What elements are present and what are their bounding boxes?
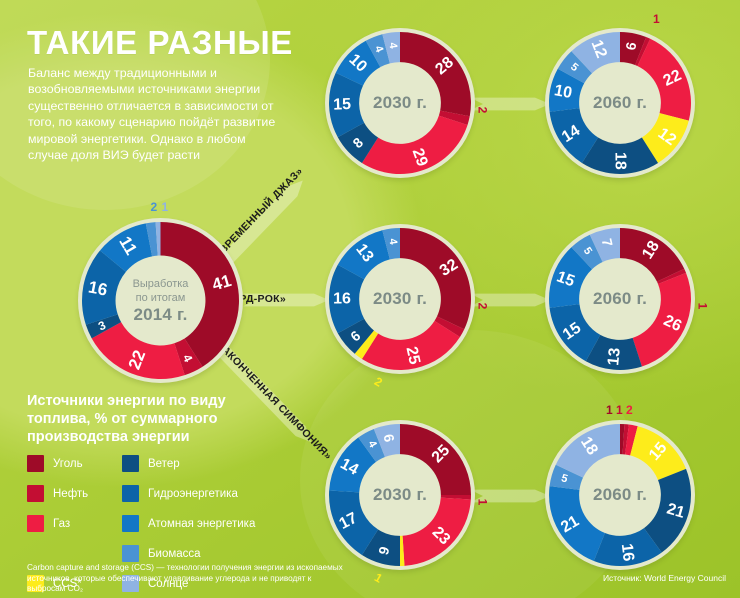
legend-item--: Ветер [122,452,255,475]
donut-slice-label: 16 [87,277,109,299]
legend-item--: Биомасса [122,542,255,565]
infographic-canvas: ТАКИЕ РАЗНЫЕ Баланс между традиционными … [0,0,740,598]
legend-swatch [27,485,44,502]
donut-ring: 622121814105122060 г. [545,28,695,178]
donut-svg: 25239171446 [325,420,475,570]
donut-chart-rock-2030: 32256161342030 г.22 [325,224,475,374]
donut-svg: 182613151557 [545,224,695,374]
connector-jazz-2030-2060 [470,88,550,120]
donut-chart-symphony-2060: 152116215182060 г.112 [545,420,695,570]
source-credit: Источник: World Energy Council [603,573,726,583]
legend-item--: Гидроэнергетика [122,482,255,505]
donut-outside-label: 1 [653,12,660,26]
donut-slice-label: 18 [612,152,629,170]
legend-title: Источники энергии по виду топлива, % от … [27,392,277,446]
donut-slice-label: 16 [618,543,637,563]
legend-swatch [27,455,44,472]
legend-item--: Нефть [27,482,88,505]
legend-item-label: Биомасса [148,548,201,560]
donut-ring: 252391714462030 г. [325,420,475,570]
intro-paragraph: Баланс между традиционными и возобновляе… [28,65,288,163]
donut-chart-rock-2060: 1826131515572060 г.1 [545,224,695,374]
donut-svg: 3225616134 [325,224,475,374]
legend-item-label: Уголь [53,458,83,470]
donut-outside-label: 1 [371,570,384,585]
donut-svg: 62212181410512 [545,28,695,178]
legend-footnote: Carbon capture and storage (CCS) — техно… [27,563,347,595]
legend-item-label: Нефть [53,488,88,500]
donut-ring: 1826131515572060 г. [545,224,695,374]
legend-item-label: Ветер [148,458,180,470]
donut-slice-label: 15 [333,96,351,114]
connector-rock-2030-2060 [470,284,550,316]
legend-item--: Газ [27,512,88,535]
legend-item--: Атомная энергетика [122,512,255,535]
legend-item--: Уголь [27,452,88,475]
legend-swatch [122,515,139,532]
page-title: ТАКИЕ РАЗНЫЕ [27,24,293,62]
donut-outside-label: 1 [475,499,489,506]
donut-ring: 4142231611Выработкапо итогам2014 г. [78,218,243,383]
legend-item-label: Газ [53,518,70,530]
donut-chart-jazz-2060: 622121814105122060 г.1 [545,28,695,178]
legend-swatch [122,485,139,502]
donut-slice-label: 13 [605,347,624,366]
donut-outside-label: 2 [475,107,489,114]
donut-svg: 15211621518 [545,420,695,570]
donut-slice-label: 16 [333,291,351,308]
legend-swatch [27,515,44,532]
donut-chart-base-2014: 4142231611Выработкапо итогам2014 г.21 [78,218,243,383]
donut-outside-label: 2 [371,374,384,389]
donut-ring: 282981510442030 г. [325,28,475,178]
donut-outside-label: 1 [162,200,169,214]
donut-outside-label: 1 [695,303,709,310]
donut-outside-label: 2 [626,403,633,417]
donut-ring: 32256161342030 г. [325,224,475,374]
donut-svg: 28298151044 [325,28,475,178]
legend-swatch [122,455,139,472]
donut-svg: 4142231611 [78,218,243,383]
donut-outside-label: 1 [616,403,623,417]
legend-item-label: Гидроэнергетика [148,488,238,500]
donut-chart-symphony-2030: 252391714462030 г.11 [325,420,475,570]
donut-slice-label: 10 [553,82,574,102]
donut-outside-label: 2 [151,200,158,214]
intro-text: Баланс между традиционными и возобновляе… [28,65,288,163]
donut-chart-jazz-2030: 282981510442030 г.2 [325,28,475,178]
donut-outside-label: 1 [606,403,613,417]
donut-ring: 152116215182060 г. [545,420,695,570]
legend-swatch [122,545,139,562]
legend-item-label: Атомная энергетика [148,518,255,530]
donut-outside-label: 2 [475,303,489,310]
connector-symphony-2030-2060 [470,480,550,512]
